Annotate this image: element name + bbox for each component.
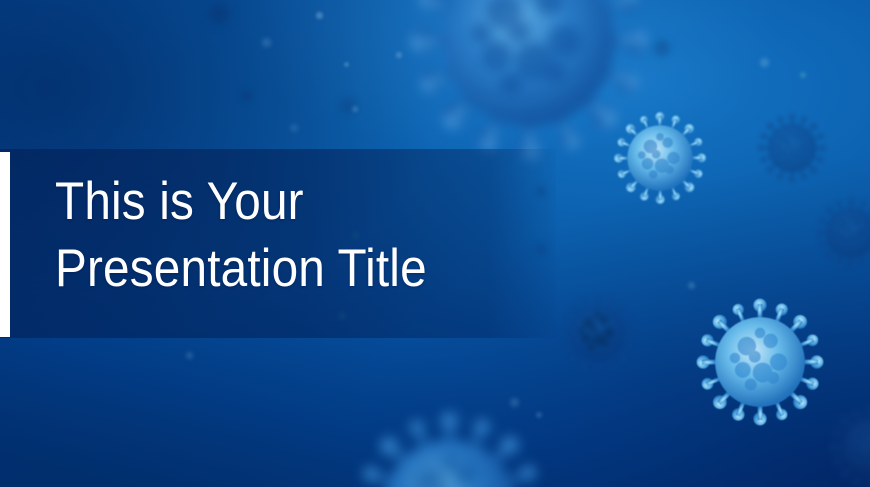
slide-title-line-1: This is Your <box>55 168 523 235</box>
presentation-title-slide: This is Your Presentation Title <box>0 0 870 487</box>
slide-title: This is Your Presentation Title <box>55 168 575 302</box>
left-accent-bar <box>0 152 10 337</box>
slide-title-line-2: Presentation Title <box>55 235 523 302</box>
